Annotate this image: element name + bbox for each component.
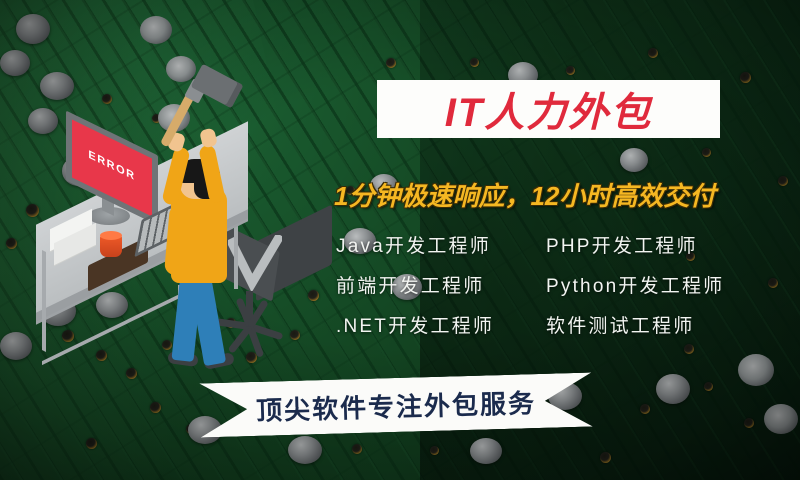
service-list: Java开发工程师 PHP开发工程师 前端开发工程师 Python开发工程师 .… (336, 224, 800, 344)
service-row: Java开发工程师 PHP开发工程师 (336, 224, 800, 264)
service-row: .NET开发工程师 软件测试工程师 (336, 304, 800, 344)
desk-leg (42, 250, 46, 352)
bottom-ribbon: 顶尖软件专注外包服务 (199, 373, 592, 438)
title-banner: IT人力外包 (377, 80, 720, 138)
service-row: 前端开发工程师 Python开发工程师 (336, 264, 800, 304)
poster-canvas: ERROR IT人力外包 1分钟极速响应，12小时高效交付 (0, 0, 800, 480)
page-title: IT人力外包 (445, 80, 653, 138)
service-item: 软件测试工程师 (546, 311, 776, 338)
service-item: Java开发工程师 (336, 231, 546, 258)
service-item: 前端开发工程师 (336, 271, 546, 298)
service-item: Python开发工程师 (546, 271, 776, 298)
service-item: PHP开发工程师 (546, 231, 776, 258)
ribbon-slogan: 顶尖软件专注外包服务 (199, 373, 592, 438)
subtitle-tagline: 1分钟极速响应，12小时高效交付 (334, 176, 800, 213)
hero-illustration: ERROR (28, 55, 328, 365)
service-item: .NET开发工程师 (336, 311, 546, 338)
coffee-mug-rim (100, 231, 122, 240)
